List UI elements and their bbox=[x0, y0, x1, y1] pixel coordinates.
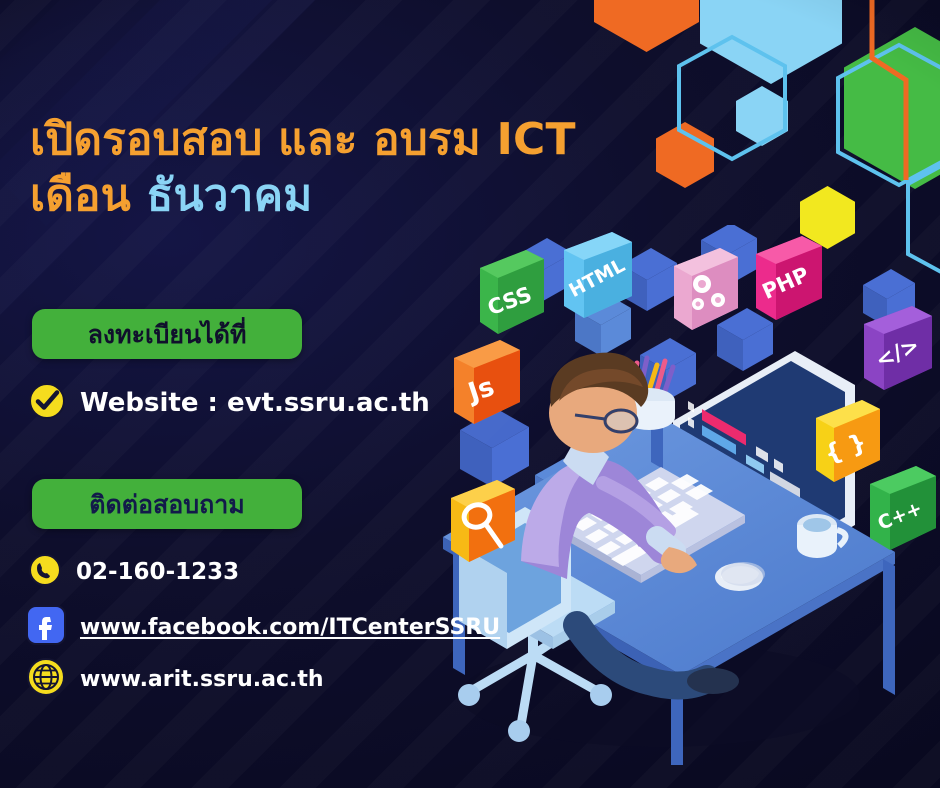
badge-cpp: C++ bbox=[864, 466, 940, 560]
globe-icon bbox=[26, 657, 66, 701]
badge-php: PHP bbox=[750, 236, 828, 330]
contact-pill-button[interactable]: ติดต่อสอบถาม bbox=[32, 479, 302, 529]
contact-phone-number: 02-160-1233 bbox=[76, 559, 239, 585]
headline-line-1: เปิดรอบสอบ และ อบรม ICT bbox=[30, 112, 710, 168]
contact-facebook-row[interactable]: www.facebook.com/ITCenterSSRU bbox=[26, 605, 500, 649]
headline: เปิดรอบสอบ และ อบรม ICT เดือน ธันวาคม bbox=[30, 112, 710, 225]
badge-js: Js bbox=[448, 340, 526, 434]
badge-gears bbox=[668, 248, 744, 340]
register-website-row[interactable]: Website : evt.ssru.ac.th bbox=[28, 382, 430, 424]
check-circle-icon bbox=[28, 382, 66, 424]
phone-circle-icon bbox=[28, 553, 62, 591]
headline-line-2-highlight: ธันวาคม bbox=[146, 170, 312, 221]
register-pill-label: ลงทะเบียนได้ที่ bbox=[88, 322, 247, 347]
contact-facebook-url: www.facebook.com/ITCenterSSRU bbox=[80, 615, 500, 640]
badge-code: </> bbox=[858, 306, 938, 402]
badge-html: HTML bbox=[558, 232, 638, 328]
headline-line-2: เดือน ธันวาคม bbox=[30, 168, 710, 224]
register-website-label: Website : evt.ssru.ac.th bbox=[80, 388, 430, 418]
contact-pill-label: ติดต่อสอบถาม bbox=[89, 492, 245, 517]
poster-root: CSS HTML Js bbox=[0, 0, 940, 788]
contact-website-row[interactable]: www.arit.ssru.ac.th bbox=[26, 657, 324, 701]
facebook-icon bbox=[26, 605, 66, 649]
headline-line-2-prefix: เดือน bbox=[30, 170, 146, 221]
badge-css: CSS bbox=[474, 250, 550, 342]
contact-phone-row[interactable]: 02-160-1233 bbox=[28, 553, 239, 591]
badge-search bbox=[445, 480, 521, 572]
contact-website-url: www.arit.ssru.ac.th bbox=[80, 667, 324, 692]
register-pill-button[interactable]: ลงทะเบียนได้ที่ bbox=[32, 309, 302, 359]
